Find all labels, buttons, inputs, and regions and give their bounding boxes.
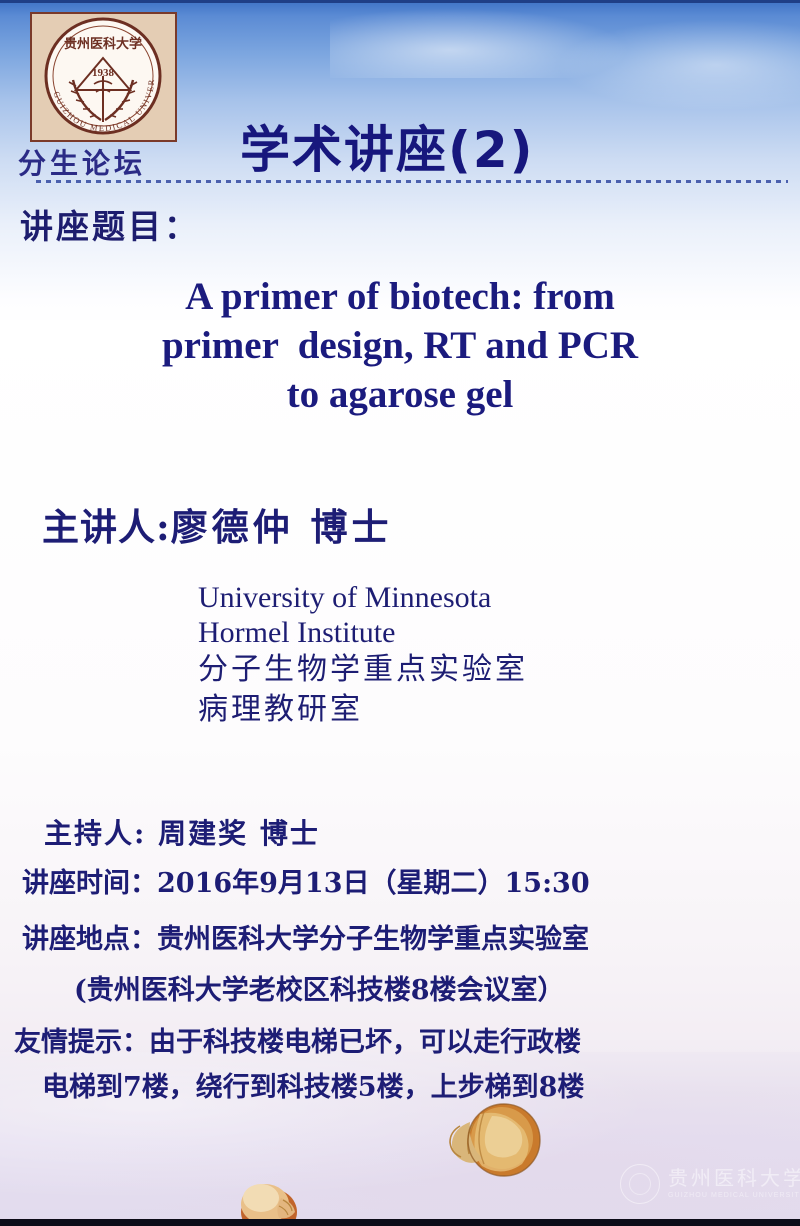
forum-label: 分生论坛: [18, 142, 146, 182]
affiliation-line-lab: 分子生物学重点实验室: [198, 650, 528, 690]
affiliation-line-institute: Hormel Institute: [198, 615, 528, 650]
place-detail-row: (贵州医科大学老校区科技楼8楼会议室）: [74, 968, 565, 1007]
seashell-icon: [235, 1170, 307, 1226]
lecture-poster: 贵州医科大学 1938 GUIZHOU MEDICAL UNIVERSITY 分…: [0, 0, 800, 1226]
top-border: [0, 0, 800, 3]
seashell-icon: [440, 1100, 544, 1178]
place-row: 讲座地点：贵州医科大学分子生物学重点实验室: [22, 917, 589, 956]
affiliation-line-university: University of Minnesota: [198, 580, 528, 615]
speaker-row: 主讲人:廖德仲 博士: [42, 497, 393, 551]
svg-text:贵州医科大学: 贵州医科大学: [64, 36, 142, 52]
lecture-title-line-1: A primer of biotech: from: [55, 272, 745, 321]
page-title: 学术讲座(2): [240, 110, 535, 182]
university-logo: 贵州医科大学 1938 GUIZHOU MEDICAL UNIVERSITY: [30, 12, 177, 142]
watermark-name-en: GUIZHOU MEDICAL UNIVERSITY: [668, 1192, 800, 1199]
lecture-title-line-3: to agarose gel: [55, 370, 745, 419]
speaker-name: 廖德仲 博士: [171, 505, 393, 549]
seal-graphic: 贵州医科大学 1938 GUIZHOU MEDICAL UNIVERSITY: [32, 14, 175, 140]
lecture-title: A primer of biotech: from primer design,…: [55, 272, 745, 419]
lecture-title-line-2: primer design, RT and PCR: [55, 321, 745, 370]
reminder-row-1: 友情提示：由于科技楼电梯已坏，可以走行政楼: [14, 1020, 581, 1059]
header-divider: [36, 180, 788, 183]
bottom-border: [0, 1219, 800, 1226]
watermark-seal-icon: [620, 1164, 660, 1204]
reminder-row-2: 电梯到7楼，绕行到科技楼5楼，上步梯到8楼: [42, 1065, 584, 1104]
lecture-title-label: 讲座题目：: [20, 200, 200, 248]
watermark-text: 贵州医科大学 GUIZHOU MEDICAL UNIVERSITY: [668, 1168, 800, 1199]
affiliation-block: University of Minnesota Hormel Institute…: [198, 580, 528, 730]
cloud-decoration: [560, 20, 800, 110]
watermark-name-cn: 贵州医科大学: [668, 1168, 800, 1189]
affiliation-line-department: 病理教研室: [198, 690, 528, 730]
speaker-label: 主讲人:: [42, 505, 171, 549]
time-row: 讲座时间：2016年9月13日（星期二）15:30: [22, 861, 590, 900]
host-row: 主持人: 周建奖 博士: [44, 812, 320, 852]
watermark: 贵州医科大学 GUIZHOU MEDICAL UNIVERSITY: [620, 1158, 792, 1210]
